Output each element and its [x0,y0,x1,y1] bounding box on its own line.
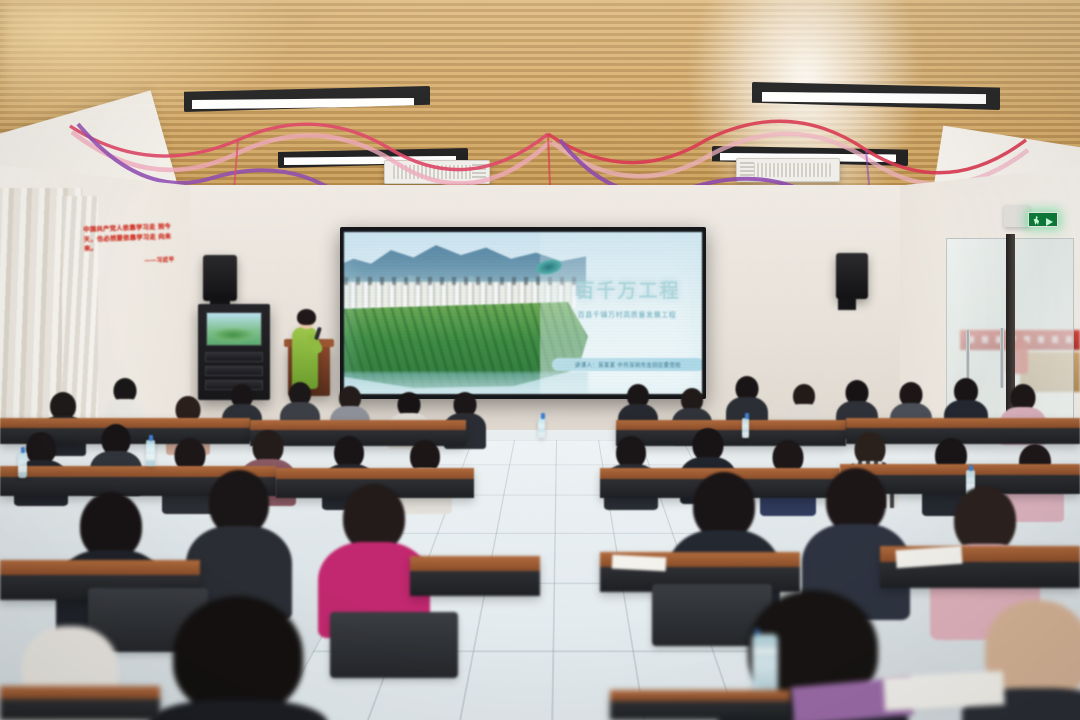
led-display-wall[interactable]: 百千万工程 百县千镇万村高质量发展工程 讲课人：吴某某 中共深圳市龙田区委党校 [340,227,706,399]
rack-unit[interactable] [205,352,263,362]
door-handle-right[interactable] [1000,328,1004,388]
wall-speaker-left [203,255,237,301]
attendee [148,596,328,720]
handout-paper[interactable] [883,671,1005,711]
chair-back [330,612,458,678]
speaker-hair [297,309,316,325]
rack-unit[interactable] [205,366,263,376]
wall-slogan-line1: 中国共产党人依靠学习走 [83,224,156,234]
arrow-right-icon [1046,218,1053,226]
rack-preview-monitor [206,312,262,346]
running-man-icon [1033,216,1040,225]
water-bottle[interactable] [146,440,155,466]
water-bottle[interactable] [538,418,545,438]
water-bottle[interactable] [742,418,749,438]
wall-speaker-right [836,253,868,299]
handout-paper[interactable] [612,555,667,572]
slide-presenter-bar: 讲课人：吴某某 中共深圳市龙田区委党校 [552,358,702,371]
slide-title: 百千万工程 [548,276,702,303]
water-bottle[interactable] [18,452,27,478]
desk-row [410,556,540,596]
wall-slogan: 中国共产党人依靠学习走 到今天，也必然要依靠学习走 向未来。 ——习近平 [83,222,175,268]
slide-subtitle: 百县千镇万村高质量发展工程 [544,310,702,320]
presentation-slide: 百千万工程 百县千镇万村高质量发展工程 讲课人：吴某某 中共深圳市龙田区委党校 [344,232,702,394]
exit-sign [1028,212,1058,227]
conference-room-photo: 中国共产党人依靠学习走 到今天，也必然要依靠学习走 向未来。 ——习近平 百千万… [0,0,1080,720]
desk-row [610,690,790,720]
desk-row [0,686,160,720]
emergency-light-box [1004,205,1030,227]
